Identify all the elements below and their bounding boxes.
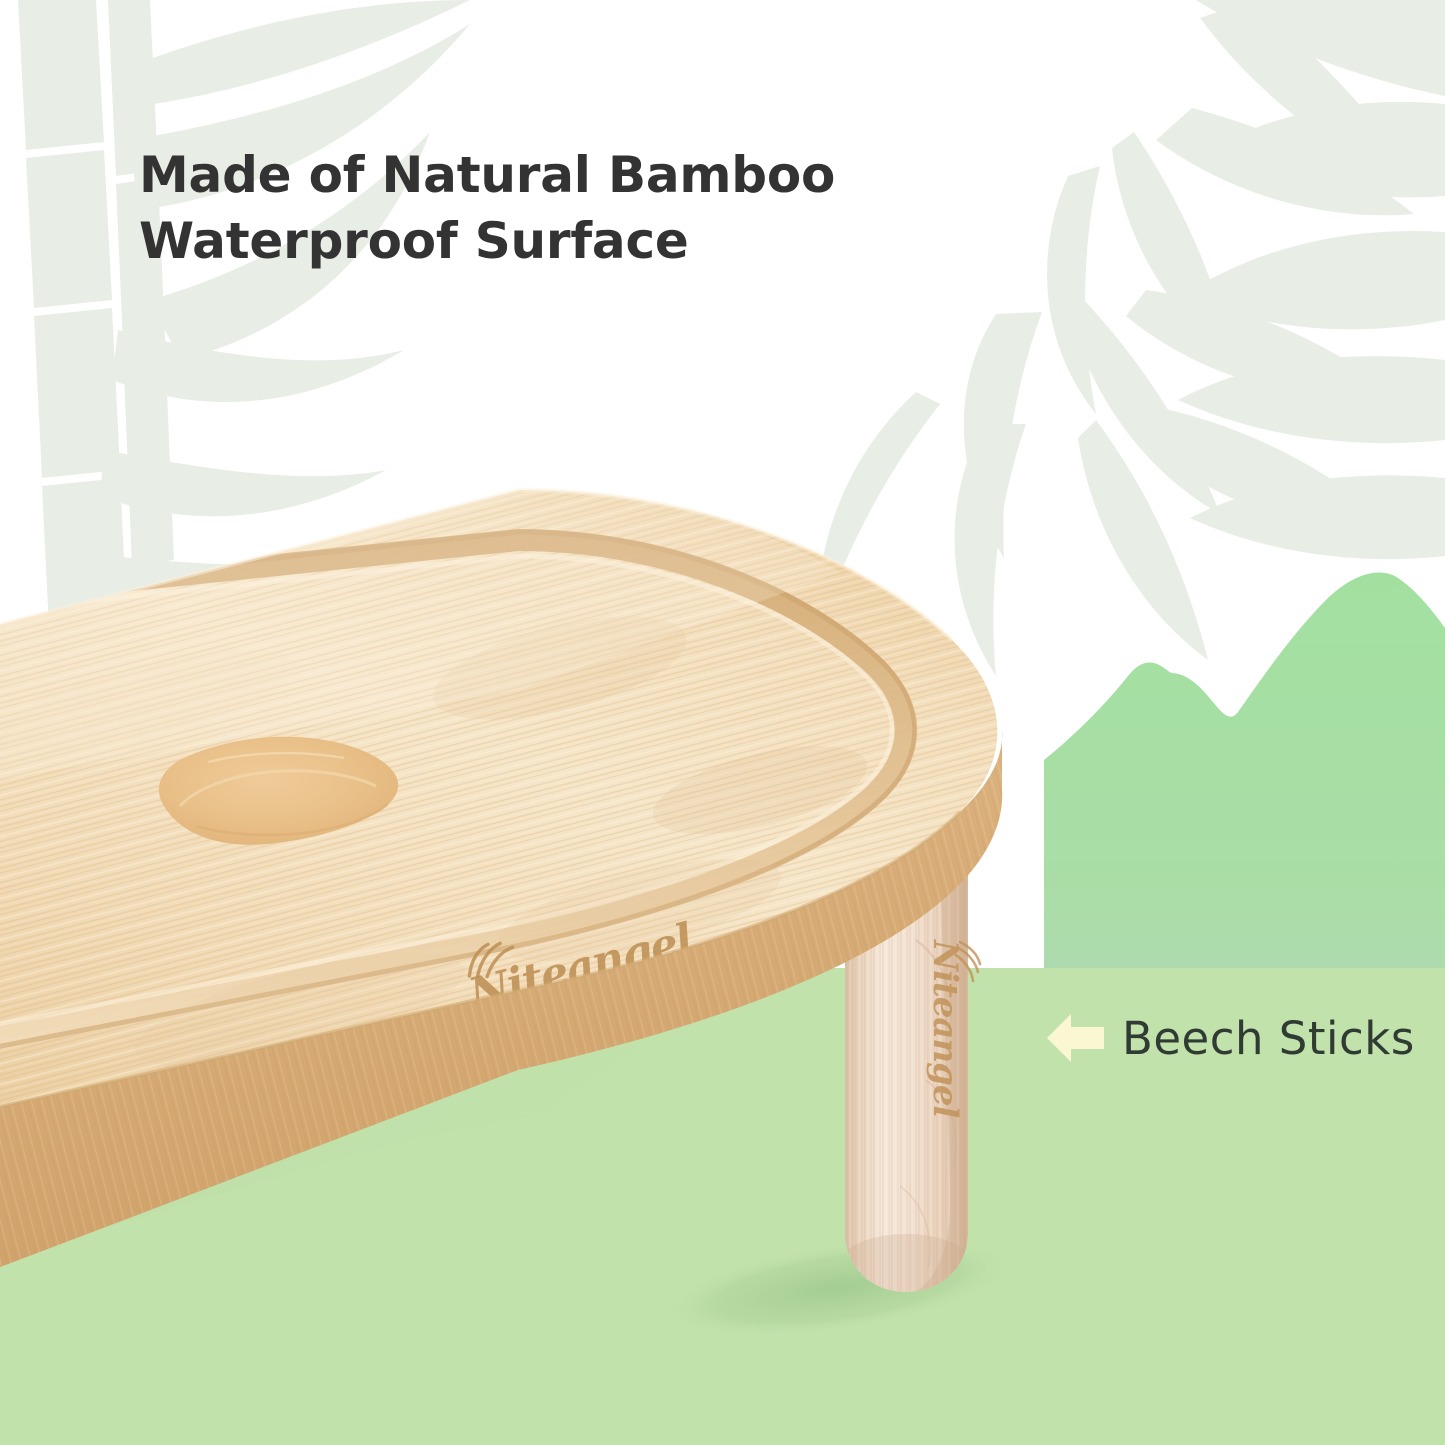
board-engraving: Niteangel: [457, 895, 698, 1021]
hill-silhouette: [1044, 573, 1445, 1445]
leg-floor-shadow: [654, 1219, 1023, 1356]
bamboo-board: Niteangel: [0, 400, 1445, 1300]
beech-sticks-callout: Beech Sticks: [1046, 1010, 1415, 1066]
product-feature-image: Niteangel: [0, 0, 1445, 1445]
beech-stick-leg: Niteangel: [836, 872, 980, 1302]
svg-text:Niteangel: Niteangel: [925, 939, 965, 1118]
headline-line-2: Waterproof Surface: [139, 208, 899, 274]
beech-sticks-label: Beech Sticks: [1122, 1012, 1415, 1065]
board-floor-shadow: [0, 1010, 900, 1275]
tray-groove: [0, 540, 905, 1050]
water-droplet: [159, 737, 398, 845]
leg-engraving: Niteangel: [925, 939, 980, 1118]
board-edge: [0, 730, 1002, 1290]
bamboo-stalk-top-left: [18, 0, 470, 818]
bamboo-leaves-top-right: [817, 0, 1445, 676]
svg-text:Niteangel: Niteangel: [462, 914, 698, 1021]
bamboo-leaves-mid-left: [92, 886, 582, 1400]
headline-line-1: Made of Natural Bamboo: [139, 142, 899, 208]
product-shadows: [0, 1010, 1022, 1357]
board-top-face: [0, 490, 997, 1120]
arrow-left-icon: [1046, 1010, 1108, 1066]
headline: Made of Natural Bamboo Waterproof Surfac…: [139, 142, 899, 274]
